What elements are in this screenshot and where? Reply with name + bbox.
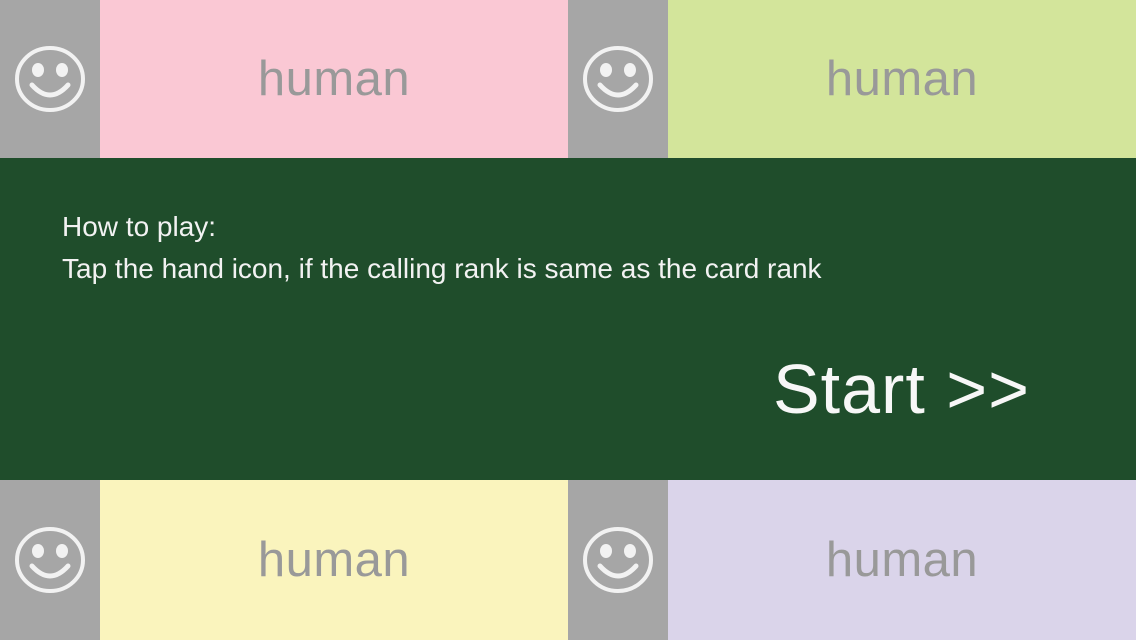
game-setup-screen: human human How to play: Tap the hand ic… xyxy=(0,0,1136,640)
avatar-toggle-player-4[interactable] xyxy=(568,480,668,640)
start-button[interactable]: Start >> xyxy=(773,354,1030,424)
smiley-icon xyxy=(580,522,656,598)
player-slot-4[interactable]: human xyxy=(568,480,1136,640)
smiley-icon xyxy=(12,522,88,598)
player-3-seat[interactable]: human xyxy=(100,480,568,640)
avatar-toggle-player-1[interactable] xyxy=(0,0,100,158)
avatar-toggle-player-3[interactable] xyxy=(0,480,100,640)
player-2-seat[interactable]: human xyxy=(668,0,1136,158)
player-slot-1[interactable]: human xyxy=(0,0,568,158)
player-4-seat[interactable]: human xyxy=(668,480,1136,640)
how-to-play-body: Tap the hand icon, if the calling rank i… xyxy=(62,248,1062,290)
player-slot-3[interactable]: human xyxy=(0,480,568,640)
avatar-toggle-player-2[interactable] xyxy=(568,0,668,158)
top-player-row: human human xyxy=(0,0,1136,158)
player-2-name: human xyxy=(826,55,978,104)
player-4-name: human xyxy=(826,536,978,585)
smiley-icon xyxy=(12,41,88,117)
how-to-play-heading: How to play: xyxy=(62,206,1062,248)
instruction-panel: How to play: Tap the hand icon, if the c… xyxy=(0,158,1136,480)
player-slot-2[interactable]: human xyxy=(568,0,1136,158)
player-1-seat[interactable]: human xyxy=(100,0,568,158)
player-1-name: human xyxy=(258,55,410,104)
player-3-name: human xyxy=(258,536,410,585)
how-to-play-text: How to play: Tap the hand icon, if the c… xyxy=(62,206,1062,290)
bottom-player-row: human human xyxy=(0,480,1136,640)
smiley-icon xyxy=(580,41,656,117)
start-button-wrapper: Start >> xyxy=(773,354,1030,424)
